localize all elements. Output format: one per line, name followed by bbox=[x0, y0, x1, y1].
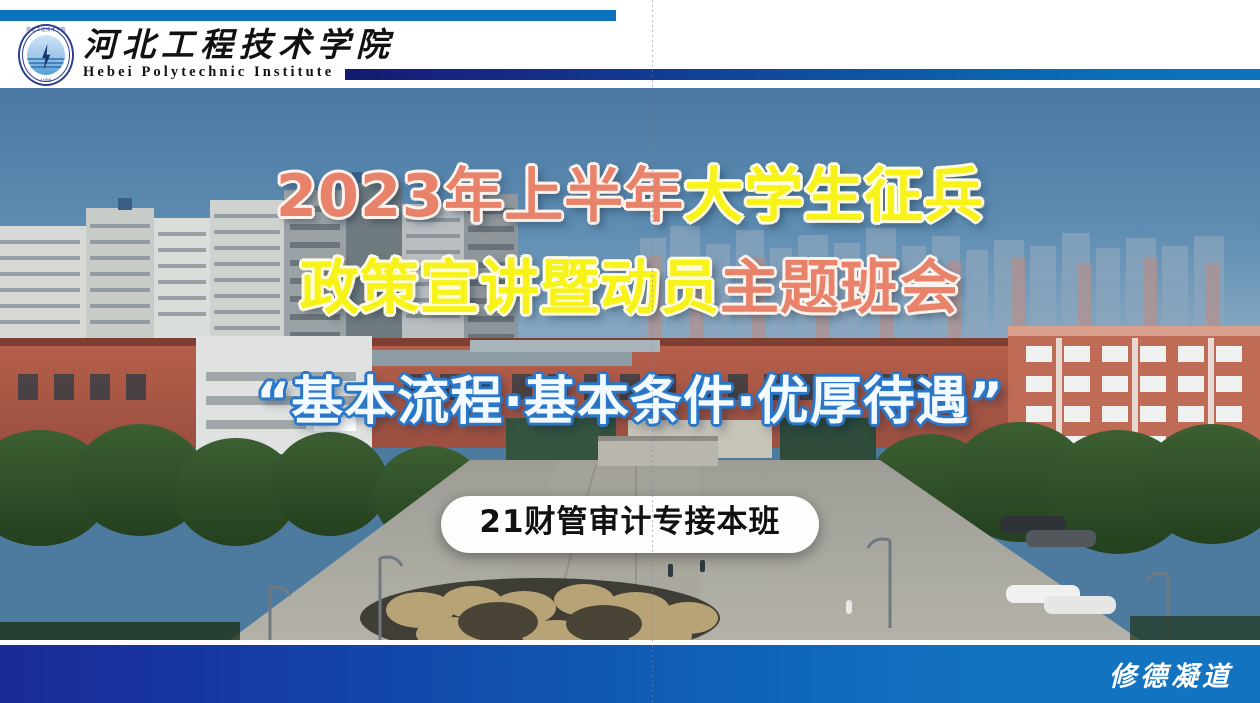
class-badge-row: 21财管审计专接本班 bbox=[0, 496, 1260, 553]
header-top-accent-bar bbox=[0, 10, 616, 21]
seal-emblem bbox=[27, 35, 65, 75]
class-name-badge[interactable]: 21财管审计专接本班 bbox=[441, 496, 818, 553]
slide-header: 河北工程技术学院 1999 河北工程技术学院 Hebei Polytechnic… bbox=[0, 0, 1260, 88]
presentation-slide: 河北工程技术学院 1999 河北工程技术学院 Hebei Polytechnic… bbox=[0, 0, 1260, 703]
seal-arc-text: 河北工程技术学院 bbox=[18, 27, 74, 33]
university-seal-icon: 河北工程技术学院 1999 bbox=[18, 24, 74, 86]
campus-photo-illustration bbox=[0, 88, 1260, 640]
institution-logo: 河北工程技术学院 1999 河北工程技术学院 Hebei Polytechnic… bbox=[18, 24, 395, 86]
institution-name-cn: 河北工程技术学院 bbox=[83, 29, 395, 64]
campus-background-photo bbox=[0, 88, 1260, 640]
slide-footer: 修德凝道 bbox=[0, 645, 1260, 703]
footer-motto-text: 修德凝道 bbox=[1109, 655, 1233, 694]
seal-year: 1999 bbox=[18, 79, 74, 84]
header-gradient-bar bbox=[345, 69, 1260, 80]
